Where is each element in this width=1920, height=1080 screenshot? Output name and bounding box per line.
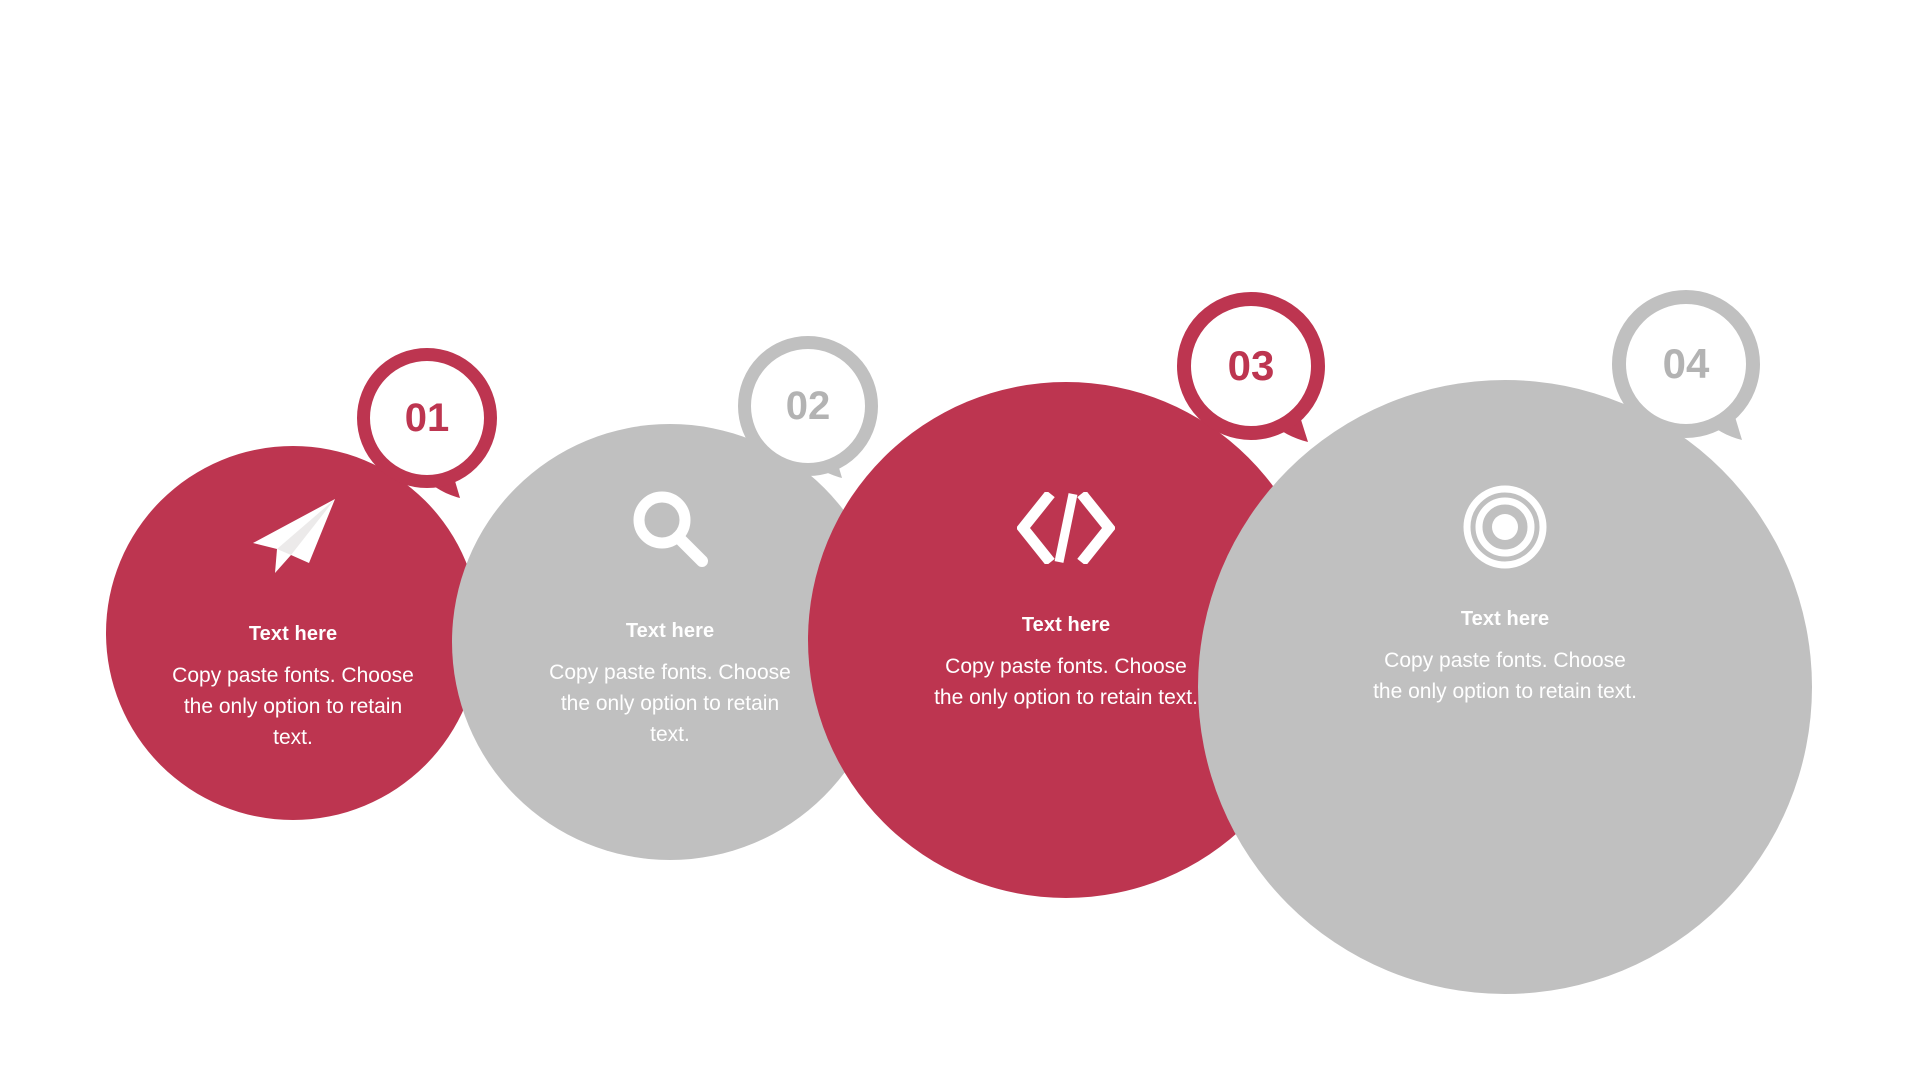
step-4-number: 04 — [1663, 343, 1710, 385]
step-2-number-badge[interactable]: 02 — [738, 336, 878, 476]
step-1-text-block: Text here Copy paste fonts. Choose the o… — [106, 623, 480, 753]
target-icon — [1462, 484, 1548, 570]
step-4-text-block: Text here Copy paste fonts. Choose the o… — [1198, 608, 1812, 707]
step-circle-4[interactable]: Text here Copy paste fonts. Choose the o… — [1198, 380, 1812, 994]
step-circle-1[interactable]: Text here Copy paste fonts. Choose the o… — [106, 446, 480, 820]
step-2-description: Copy paste fonts. Choose the only option… — [539, 657, 801, 750]
step-4-description: Copy paste fonts. Choose the only option… — [1372, 645, 1638, 707]
step-4-title: Text here — [1198, 608, 1812, 631]
step-4-number-badge[interactable]: 04 — [1612, 290, 1760, 438]
paper-plane-icon — [247, 497, 339, 579]
step-1-number-badge[interactable]: 01 — [357, 348, 497, 488]
step-1-description: Copy paste fonts. Choose the only option… — [164, 660, 422, 753]
infographic-canvas: Text here Copy paste fonts. Choose the o… — [0, 0, 1920, 1080]
code-brackets-icon — [1017, 492, 1115, 564]
step-3-description: Copy paste fonts. Choose the only option… — [932, 651, 1200, 713]
magnifier-icon — [628, 488, 712, 572]
step-3-number-badge[interactable]: 03 — [1177, 292, 1325, 440]
step-2-number: 02 — [786, 386, 831, 426]
step-4-icon-area — [1198, 462, 1812, 592]
step-1-number: 01 — [405, 398, 450, 438]
step-3-number: 03 — [1228, 345, 1275, 387]
step-1-title: Text here — [106, 623, 480, 646]
